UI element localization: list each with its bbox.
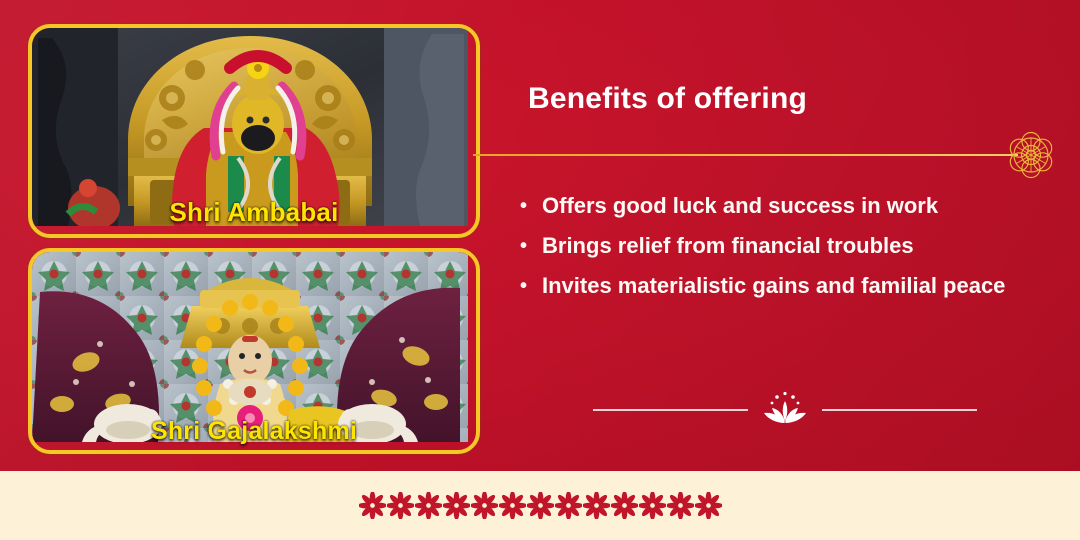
- deity-caption-ambabai: Shri Ambabai: [32, 197, 476, 228]
- list-item-text: Invites materialistic gains and familial…: [542, 266, 1020, 306]
- flower-icon: [667, 492, 694, 519]
- flower-icon: [499, 492, 526, 519]
- flower-icon: [611, 492, 638, 519]
- footer-band: [0, 471, 1080, 540]
- list-item-text: Offers good luck and success in work: [542, 186, 1020, 226]
- lotus-divider: [585, 392, 985, 428]
- flower-icon: [387, 492, 414, 519]
- section-title: Benefits of offering: [528, 82, 807, 116]
- deity-card-gajalakshmi[interactable]: Shri Gajalakshmi: [28, 248, 480, 454]
- flower-icon: [695, 492, 722, 519]
- bullet-marker-icon: •: [520, 186, 542, 226]
- slide-canvas: Shri Ambabai: [0, 0, 1080, 540]
- flower-icon: [443, 492, 470, 519]
- list-item: • Invites materialistic gains and famili…: [520, 266, 1020, 306]
- benefits-list: • Offers good luck and success in work •…: [520, 186, 1020, 306]
- flower-icon: [583, 492, 610, 519]
- deity-card-ambabai[interactable]: Shri Ambabai: [28, 24, 480, 238]
- deity-caption-gajalakshmi: Shri Gajalakshmi: [32, 417, 476, 446]
- flower-icon: [555, 492, 582, 519]
- bullet-marker-icon: •: [520, 226, 542, 266]
- lotus-icon: [762, 391, 808, 425]
- bullet-marker-icon: •: [520, 266, 542, 306]
- flower-icon: [639, 492, 666, 519]
- gajalakshmi-illustration: [32, 252, 468, 442]
- flower-icon: [471, 492, 498, 519]
- divider-line-right: [822, 409, 977, 411]
- gold-divider-rule: [473, 154, 1018, 156]
- list-item-text: Brings relief from financial troubles: [542, 226, 1020, 266]
- divider-line-left: [593, 409, 748, 411]
- footer-flower-border: [0, 471, 1080, 540]
- list-item: • Brings relief from financial troubles: [520, 226, 1020, 266]
- flower-icon: [415, 492, 442, 519]
- mandala-icon: [1004, 128, 1058, 182]
- list-item: • Offers good luck and success in work: [520, 186, 1020, 226]
- flower-icon: [359, 492, 386, 519]
- flower-icon: [527, 492, 554, 519]
